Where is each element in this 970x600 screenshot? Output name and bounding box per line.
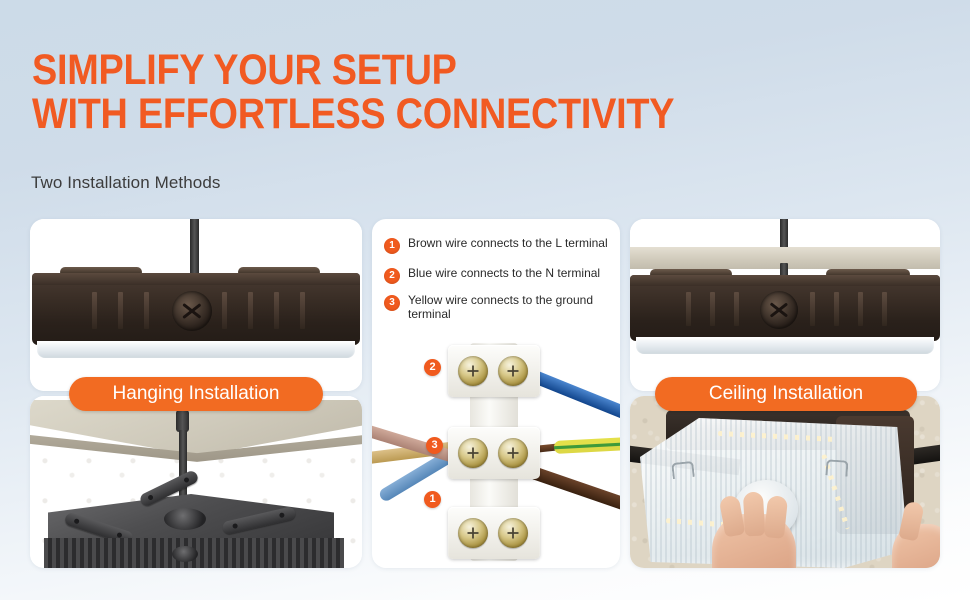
wire-yellow-green-right: [554, 437, 620, 454]
wiring-step: 1 Brown wire connects to the L terminal: [384, 236, 616, 254]
page-title: SIMPLIFY YOUR SETUP WITH EFFORTLESS CONN…: [32, 48, 683, 136]
wire-blue-right: [530, 369, 620, 420]
wiring-step: 2 Blue wire connects to the N terminal: [384, 266, 616, 284]
photo-canopy-light-side-view: [30, 219, 362, 391]
panel-wiring-instructions: 1 Brown wire connects to the L terminal …: [372, 219, 620, 568]
photo-hands-installing-diffuser: [630, 396, 940, 568]
terminal-marker-1: 1: [424, 491, 441, 508]
panel-hanging-top: [30, 219, 362, 391]
terminal-row: [448, 507, 540, 559]
subheadline: Two Installation Methods: [31, 173, 221, 193]
step-number-badge: 2: [384, 268, 400, 284]
photo-canopy-light-ceiling-mount: [630, 219, 940, 391]
step-text: Yellow wire connects to the ground termi…: [408, 293, 616, 321]
headline-line-1: SIMPLIFY YOUR SETUP: [32, 48, 683, 92]
step-number-badge: 1: [384, 238, 400, 254]
screw-terminal: [458, 518, 488, 548]
screw-terminal: [458, 438, 488, 468]
label-hanging-installation: Hanging Installation: [69, 377, 323, 411]
screw-terminal: [498, 356, 528, 386]
terminal-row: [448, 345, 540, 397]
step-text: Blue wire connects to the N terminal: [408, 266, 600, 280]
wiring-step: 3 Yellow wire connects to the ground ter…: [384, 293, 616, 321]
terminal-marker-3: 3: [426, 437, 443, 454]
infographic-root: SIMPLIFY YOUR SETUP WITH EFFORTLESS CONN…: [0, 0, 970, 600]
wiring-step-list: 1 Brown wire connects to the L terminal …: [384, 236, 616, 321]
panel-ceiling-top: [630, 219, 940, 391]
screw-terminal: [458, 356, 488, 386]
step-text: Brown wire connects to the L terminal: [408, 236, 608, 250]
panel-ceiling-bottom: [630, 396, 940, 568]
headline-line-2: WITH EFFORTLESS CONNECTIVITY: [32, 92, 683, 136]
screw-terminal: [498, 438, 528, 468]
wire-brown-right: [528, 465, 620, 512]
photo-terminal-block: 2 3 1: [372, 337, 620, 568]
label-ceiling-installation: Ceiling Installation: [655, 377, 917, 411]
terminal-row: [448, 427, 540, 479]
panel-hanging-bottom: [30, 396, 362, 568]
terminal-marker-2: 2: [424, 359, 441, 376]
photo-fixture-hanging-from-ceiling: [30, 396, 362, 568]
step-number-badge: 3: [384, 295, 400, 311]
screw-terminal: [498, 518, 528, 548]
